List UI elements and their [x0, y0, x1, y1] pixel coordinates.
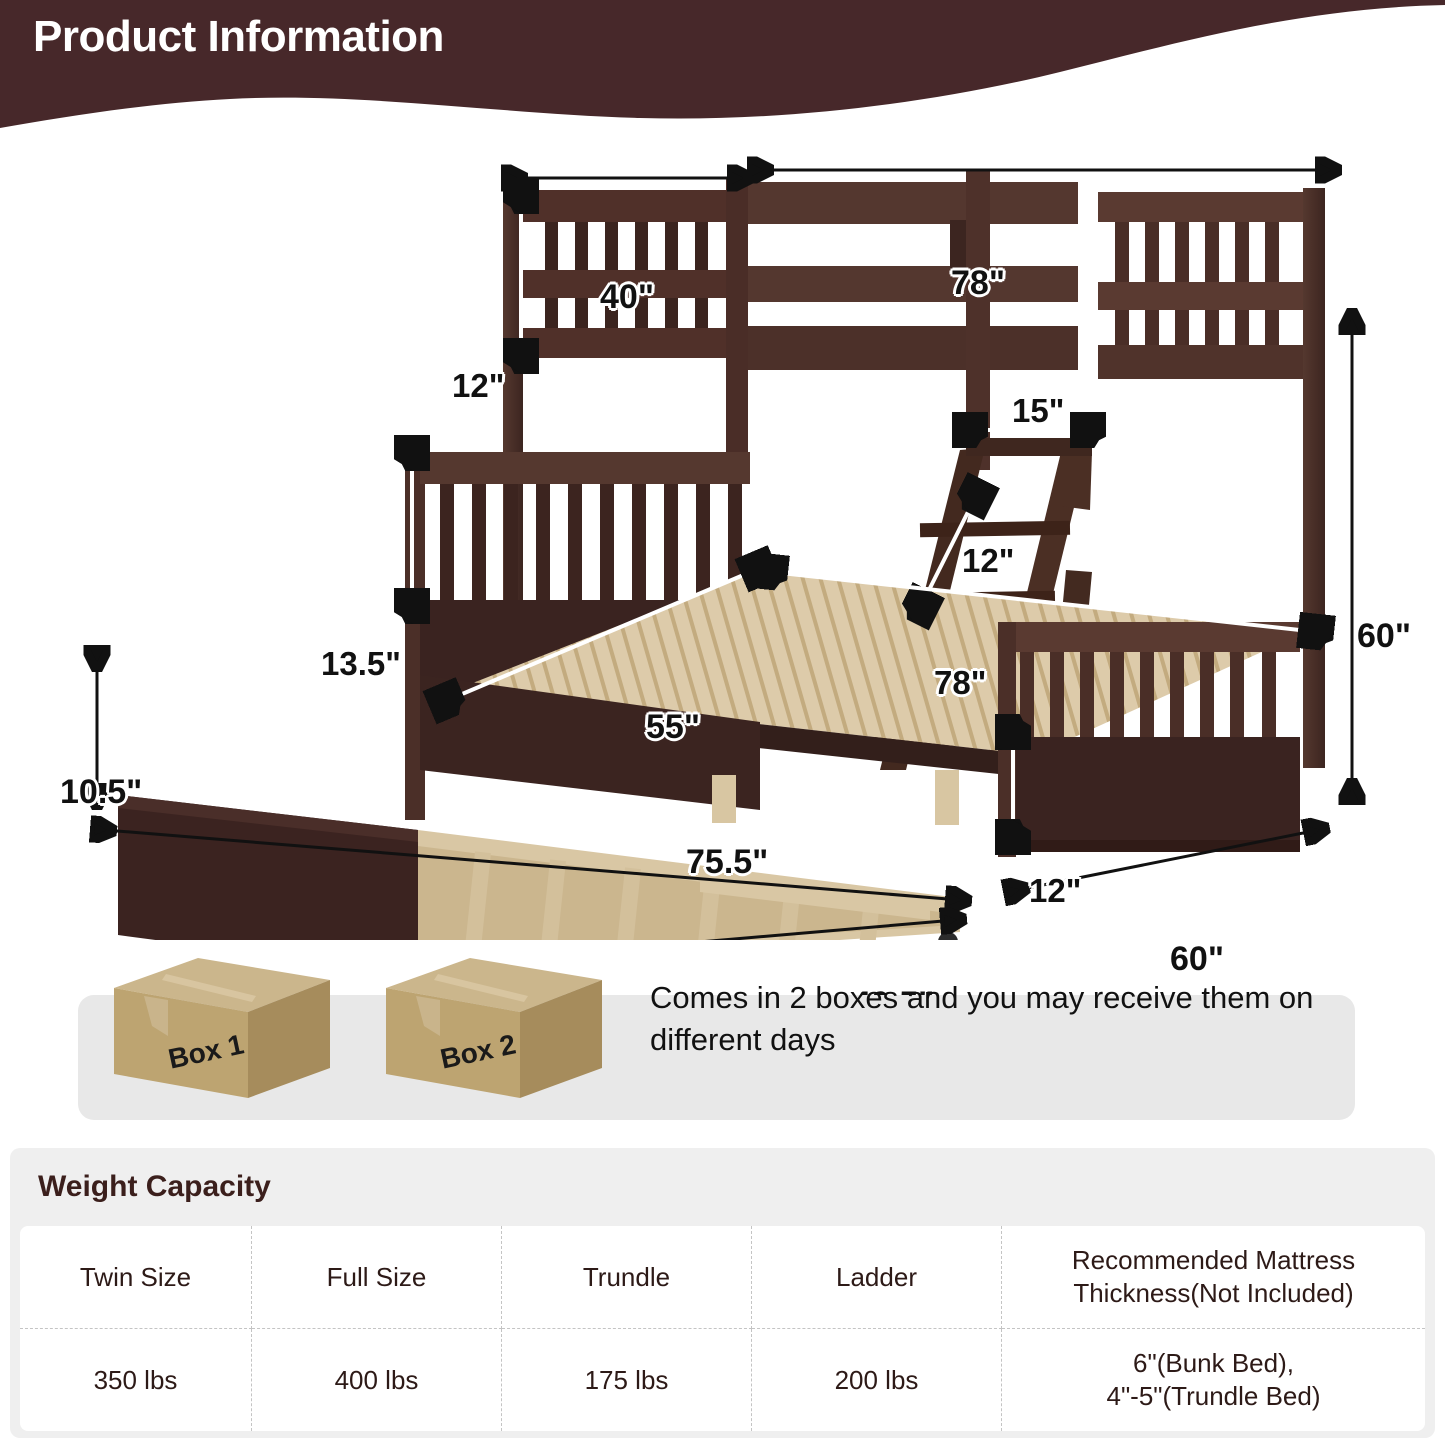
product-diagram: 40" 78" 12" 15" 12" 13.5" 55" 78" 60" 10…: [0, 130, 1445, 940]
dim-ladder-rung-spacing: 12": [962, 542, 1014, 580]
shipping-note: Comes in 2 boxes and you may receive the…: [650, 977, 1350, 1061]
col-header-ladder: Ladder: [752, 1226, 1002, 1329]
col-header-mattress-thickness: Recommended Mattress Thickness(Not Inclu…: [1002, 1226, 1425, 1329]
value-ladder: 200 lbs: [752, 1329, 1002, 1432]
shipping-box-1: Box 1: [106, 950, 338, 1095]
value-full-size: 400 lbs: [252, 1329, 502, 1432]
value-mattress-thickness: 6"(Bunk Bed), 4"-5"(Trundle Bed): [1002, 1329, 1425, 1432]
weight-capacity-title: Weight Capacity: [38, 1170, 271, 1204]
dim-bottom-bunk-length: 78": [934, 664, 986, 702]
weight-capacity-panel: Weight Capacity Twin Size Full Size Trun…: [10, 1148, 1435, 1438]
dim-headboard-height: 13.5": [321, 645, 401, 683]
weight-capacity-table: Twin Size Full Size Trundle Ladder Recom…: [20, 1226, 1425, 1431]
page-title: Product Information: [33, 12, 444, 62]
dim-top-guardrail-height: 12": [452, 367, 504, 405]
dim-overall-height: 60": [1357, 617, 1411, 656]
dim-top-bunk-length: 78": [951, 264, 1005, 303]
col-header-twin-size: Twin Size: [20, 1226, 252, 1329]
value-trundle: 175 lbs: [502, 1329, 752, 1432]
dim-top-bunk-width: 40": [600, 278, 654, 317]
bunk-bed-illustration: [0, 130, 1445, 940]
col-header-trundle: Trundle: [502, 1226, 752, 1329]
header-banner: Product Information: [0, 0, 1445, 130]
dim-under-bed-length: 75.5": [686, 843, 768, 882]
dim-footboard-height: 12": [1029, 872, 1081, 910]
dim-bottom-bunk-width: 55": [646, 708, 700, 747]
shipping-box-2: Box 2: [378, 950, 610, 1095]
value-twin-size: 350 lbs: [20, 1329, 252, 1432]
col-header-full-size: Full Size: [252, 1226, 502, 1329]
box-icon: [106, 950, 338, 1100]
dim-ladder-offset: 15": [1012, 392, 1064, 430]
box-icon: [378, 950, 610, 1100]
dim-trundle-height: 10.5": [60, 773, 142, 812]
shipping-boxes-row: Box 1 Box 2 Comes in 2 boxes and you may…: [78, 940, 1355, 1125]
